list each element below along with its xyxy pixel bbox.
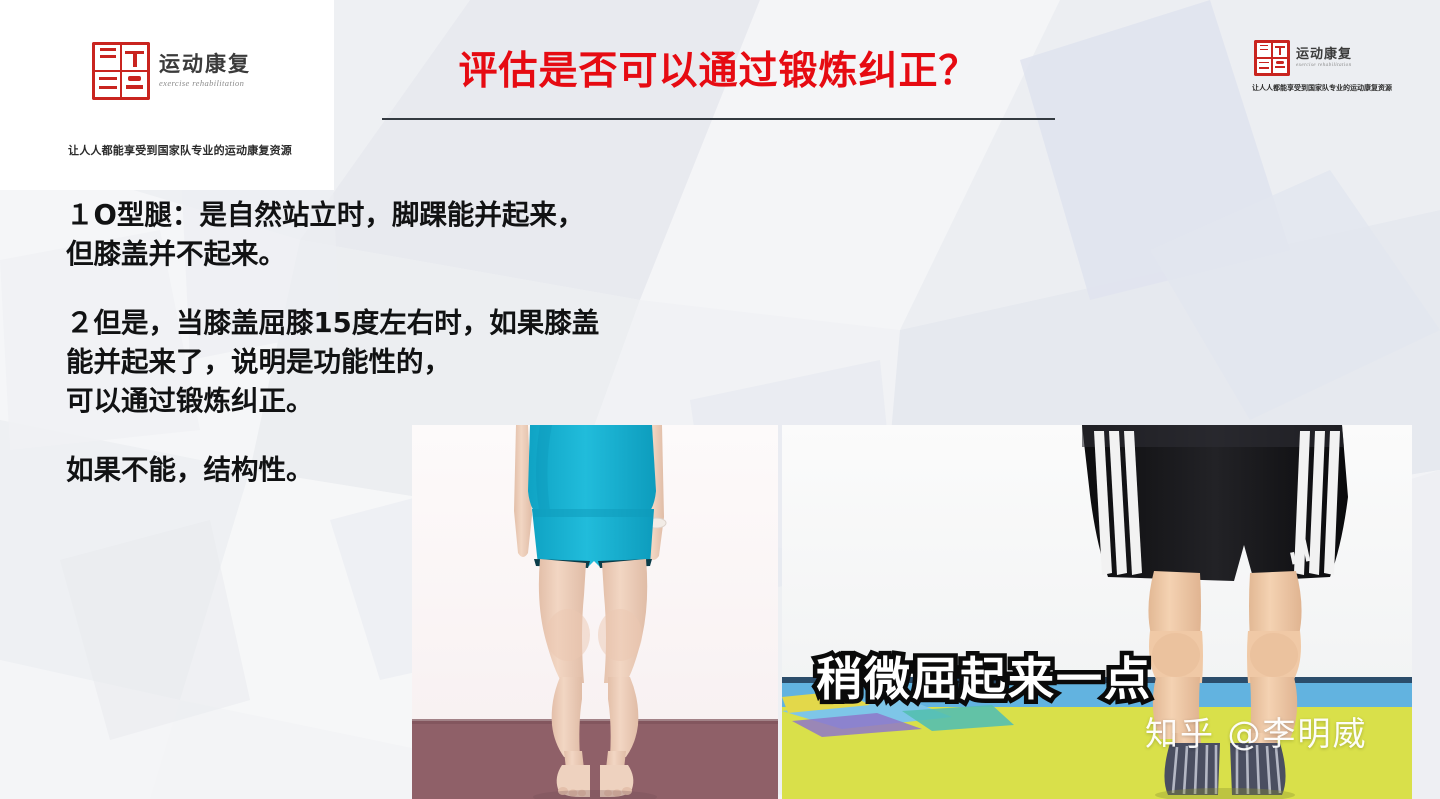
body-p1-line2: 但膝盖并不起来。 — [66, 235, 796, 274]
brand-name-cn: 运动康复 — [159, 54, 251, 75]
watermark: 知乎 @李明威 — [1145, 707, 1368, 755]
body-paragraph-1: １O型腿：是自然站立时，脚踝能并起来， 但膝盖并不起来。 — [66, 196, 796, 274]
seal-stamp-icon — [92, 42, 150, 100]
title-underline — [382, 118, 1055, 120]
slide-canvas: 运动康复 exercise rehabilitation 让人人都能享受到国家队… — [0, 0, 1440, 799]
body-p2-line3: 可以通过锻炼纠正。 — [66, 382, 796, 421]
brand-logo-small: 运动康复 exercise rehabilitation 让人人都能享受到国家队… — [1236, 40, 1408, 102]
brand-panel: 运动康复 exercise rehabilitation 让人人都能享受到国家队… — [0, 0, 334, 190]
seal-stamp-icon-small — [1254, 40, 1290, 76]
body-p2-line2: 能并起来了，说明是功能性的， — [66, 343, 796, 382]
body-paragraph-2: ２但是，当膝盖屈膝15度左右时，如果膝盖 能并起来了，说明是功能性的， 可以通过… — [66, 304, 796, 421]
brand-small-name-cn: 运动康复 — [1296, 48, 1352, 61]
body-p1-line1: １O型腿：是自然站立时，脚踝能并起来， — [66, 196, 796, 235]
brand-name-en: exercise rehabilitation — [159, 79, 251, 88]
brand-small-name-en: exercise rehabilitation — [1296, 63, 1352, 68]
photo-caption: 稍微屈起来一点 稍微屈起来一点 — [816, 643, 1152, 709]
brand-tagline: 让人人都能享受到国家队专业的运动康复资源 — [60, 142, 300, 158]
slide-title: 评估是否可以通过锻炼纠正？ — [382, 40, 1055, 96]
photo-caption-text: 稍微屈起来一点 — [816, 643, 1152, 709]
body-p2-line1: ２但是，当膝盖屈膝15度左右时，如果膝盖 — [66, 304, 796, 343]
brand-logo: 运动康复 exercise rehabilitation — [92, 42, 251, 100]
brand-small-tagline: 让人人都能享受到国家队专业的运动康复资源 — [1236, 83, 1408, 93]
photo-standing-natural — [412, 425, 778, 799]
